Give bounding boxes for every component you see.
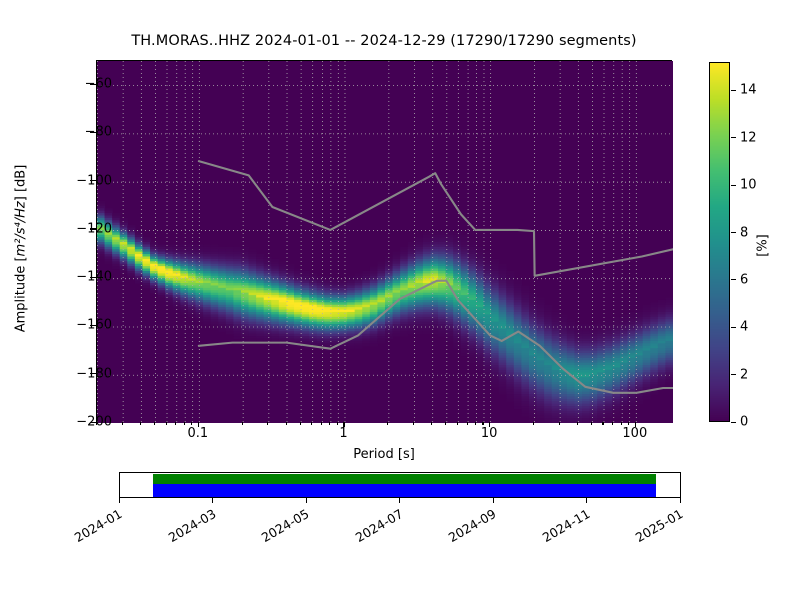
x-tick-mark-minor: [166, 422, 167, 425]
x-tick-mark-minor: [329, 422, 330, 425]
x-tick-mark-minor: [457, 422, 458, 425]
colorbar-tick-mark: [731, 185, 736, 186]
colorbar-tick-label: 12: [740, 130, 757, 145]
x-tick-mark-minor: [337, 422, 338, 425]
y-tick-label: −80: [85, 125, 112, 140]
x-tick-mark-minor: [122, 422, 123, 425]
timeline-tick-mark: [399, 498, 400, 503]
x-tick-mark-minor: [577, 422, 578, 425]
ppsd-figure: TH.MORAS..HHZ 2024-01-01 -- 2024-12-29 (…: [0, 0, 800, 600]
colorbar-gradient: [710, 63, 729, 421]
data-coverage-blue: [153, 484, 656, 497]
colorbar-tick-label: 14: [740, 83, 757, 98]
colorbar-tick-label: 10: [740, 178, 757, 193]
x-tick-mark-minor: [445, 422, 446, 425]
timeline-tick-mark: [586, 498, 587, 503]
timeline-tick-label: 2024-07: [346, 506, 405, 549]
colorbar-tick-label: 4: [740, 320, 748, 335]
x-tick-label: 100: [622, 426, 647, 441]
colorbar-tick-mark: [731, 327, 736, 328]
page-title: TH.MORAS..HHZ 2024-01-01 -- 2024-12-29 (…: [96, 33, 672, 49]
x-tick-mark-minor: [96, 422, 97, 425]
y-tick-label: −120: [76, 221, 112, 236]
x-tick-label: 1: [339, 426, 347, 441]
x-tick-mark-minor: [300, 422, 301, 425]
x-tick-mark-minor: [467, 422, 468, 425]
colorbar-tick-mark: [731, 137, 736, 138]
x-tick-mark-minor: [559, 422, 560, 425]
timeline-tick-label: 2024-01: [65, 506, 124, 549]
x-tick-mark-minor: [482, 422, 483, 425]
colorbar-tick-label: 6: [740, 272, 748, 287]
timeline-coverage-axes[interactable]: [119, 472, 681, 498]
colorbar[interactable]: [709, 62, 730, 422]
colorbar-tick-mark: [731, 90, 736, 91]
x-tick-mark-minor: [413, 422, 414, 425]
y-tick-label: −100: [76, 173, 112, 188]
colorbar-tick-label: 8: [740, 225, 748, 240]
y-tick-label: −160: [76, 318, 112, 333]
colorbar-tick-mark: [731, 422, 736, 423]
timeline-tick-label: 2024-03: [159, 506, 218, 549]
timeline-tick-mark: [680, 498, 681, 503]
colorbar-tick-label: 0: [740, 415, 748, 430]
y-tick-label: −200: [76, 415, 112, 430]
colorbar-tick-mark: [731, 232, 736, 233]
x-tick-mark-minor: [321, 422, 322, 425]
timeline-tick-label: 2025-01: [626, 506, 685, 549]
x-tick-mark-minor: [267, 422, 268, 425]
x-tick-mark-minor: [154, 422, 155, 425]
timeline-tick-label: 2024-05: [252, 506, 311, 549]
colorbar-tick-mark: [731, 279, 736, 280]
x-tick-mark-minor: [431, 422, 432, 425]
x-tick-mark-minor: [286, 422, 287, 425]
x-tick-mark-minor: [628, 422, 629, 425]
colorbar-tick-label: 2: [740, 367, 748, 382]
x-tick-mark-minor: [475, 422, 476, 425]
timeline-tick-label: 2024-09: [439, 506, 498, 549]
timeline-tick-mark: [119, 498, 120, 503]
timeline-tick-mark: [493, 498, 494, 503]
x-tick-mark-minor: [140, 422, 141, 425]
y-tick-label: −60: [85, 77, 112, 92]
x-tick-label: 10: [481, 426, 498, 441]
ppsd-plot-area[interactable]: [96, 60, 672, 422]
noise-model-curves: [97, 61, 673, 423]
x-tick-mark-minor: [533, 422, 534, 425]
timeline-tick-mark: [306, 498, 307, 503]
x-tick-mark-minor: [602, 422, 603, 425]
x-tick-mark-minor: [387, 422, 388, 425]
colorbar-tick-mark: [731, 374, 736, 375]
x-tick-mark-minor: [184, 422, 185, 425]
y-axis-label: Amplitude [m²/s⁴/Hz] [dB]: [14, 89, 29, 409]
x-tick-mark-minor: [311, 422, 312, 425]
y-axis-label-pre: Amplitude [: [14, 256, 29, 332]
timeline-tick-label: 2024-11: [533, 506, 592, 549]
x-tick-mark-minor: [621, 422, 622, 425]
y-tick-label: −140: [76, 270, 112, 285]
x-tick-mark-minor: [191, 422, 192, 425]
x-tick-mark-minor: [242, 422, 243, 425]
x-axis-label: Period [s]: [96, 447, 672, 462]
y-axis-label-post: ] [dB]: [14, 165, 29, 202]
y-axis-label-units: m²/s⁴/Hz: [14, 201, 29, 256]
y-tick-label: −180: [76, 366, 112, 381]
x-tick-label: 0.1: [187, 426, 208, 441]
x-tick-mark-minor: [591, 422, 592, 425]
timeline-tick-mark: [212, 498, 213, 503]
x-tick-mark-minor: [612, 422, 613, 425]
x-tick-mark-minor: [175, 422, 176, 425]
colorbar-label: [%]: [756, 186, 771, 306]
data-coverage-green: [153, 474, 656, 484]
